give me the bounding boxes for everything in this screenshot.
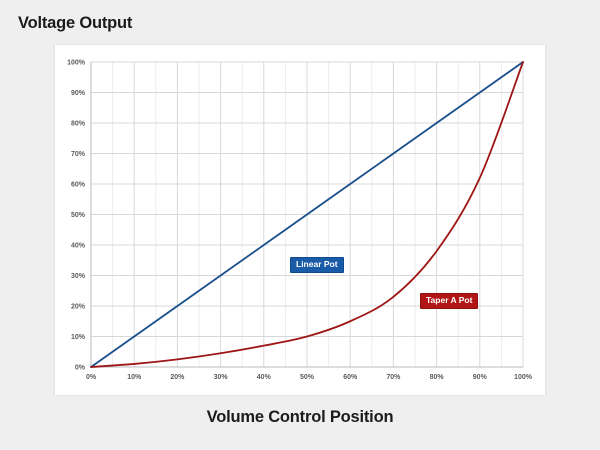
y-axis-tick-label: 20% [71, 304, 86, 311]
x-axis-tick-label: 50% [300, 374, 315, 381]
x-axis-tick-label: 90% [473, 374, 488, 381]
x-axis-tick-label: 60% [343, 374, 358, 381]
x-axis-tick-label: 0% [86, 374, 97, 381]
y-axis-tick-label: 60% [71, 182, 86, 189]
x-axis-tick-label: 100% [514, 374, 533, 381]
y-axis-tick-label: 0% [75, 365, 86, 372]
y-axis-tick-label: 70% [71, 151, 86, 158]
page-title: Voltage Output [18, 14, 132, 33]
y-axis-tick-label: 40% [71, 243, 86, 250]
x-axis-tick-label: 40% [257, 374, 272, 381]
y-axis-tick-label: 50% [71, 212, 86, 219]
chart-plot: 0%10%20%30%40%50%60%70%80%90%100%0%10%20… [55, 45, 545, 395]
chart-card: 0%10%20%30%40%50%60%70%80%90%100%0%10%20… [55, 45, 545, 395]
y-axis-tick-label: 30% [71, 273, 86, 280]
series-label-linear-pot: Linear Pot [290, 257, 344, 273]
y-axis-tick-label: 80% [71, 121, 86, 128]
x-axis-tick-label: 70% [386, 374, 401, 381]
x-axis-tick-label: 10% [127, 374, 142, 381]
y-axis-tick-label: 100% [67, 60, 86, 67]
x-axis-tick-label: 30% [214, 374, 229, 381]
y-axis-tick-label: 10% [71, 334, 86, 341]
x-axis-title: Volume Control Position [0, 408, 600, 427]
x-axis-tick-label: 20% [170, 374, 185, 381]
series-label-taper-a-pot: Taper A Pot [420, 293, 478, 309]
x-axis-tick-label: 80% [430, 374, 445, 381]
y-axis-tick-label: 90% [71, 90, 86, 97]
